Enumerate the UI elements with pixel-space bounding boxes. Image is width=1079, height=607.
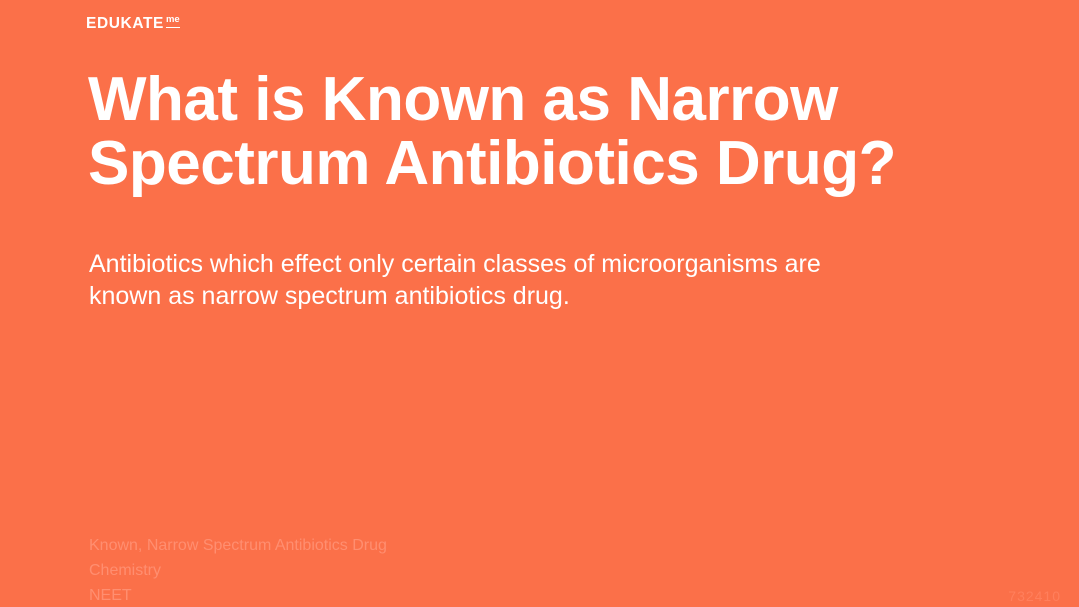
footer-keywords: Known, Narrow Spectrum Antibiotics Drug bbox=[89, 533, 387, 558]
footer-subject: Chemistry bbox=[89, 558, 387, 583]
slide-title-line-1: What is Known as Narrow bbox=[88, 68, 968, 132]
slide-title-line-2: Spectrum Antibiotics Drug? bbox=[88, 132, 968, 196]
watermark-id: 732410 bbox=[1008, 587, 1061, 605]
footer-exam: NEET bbox=[89, 583, 387, 607]
slide-body-text: Antibiotics which effect only certain cl… bbox=[89, 248, 939, 312]
slide-title: What is Known as Narrow Spectrum Antibio… bbox=[88, 68, 968, 196]
footer-metadata: Known, Narrow Spectrum Antibiotics Drug … bbox=[89, 533, 387, 607]
slide-body-line-1: Antibiotics which effect only certain cl… bbox=[89, 248, 939, 280]
brand-wordmark: EDUKATE bbox=[86, 16, 164, 32]
slide-canvas: EDUKATE me What is Known as Narrow Spect… bbox=[0, 0, 1079, 607]
brand-suffix: me bbox=[166, 15, 180, 28]
slide-body-line-2: known as narrow spectrum antibiotics dru… bbox=[89, 280, 939, 312]
brand-logo[interactable]: EDUKATE me bbox=[86, 16, 180, 32]
